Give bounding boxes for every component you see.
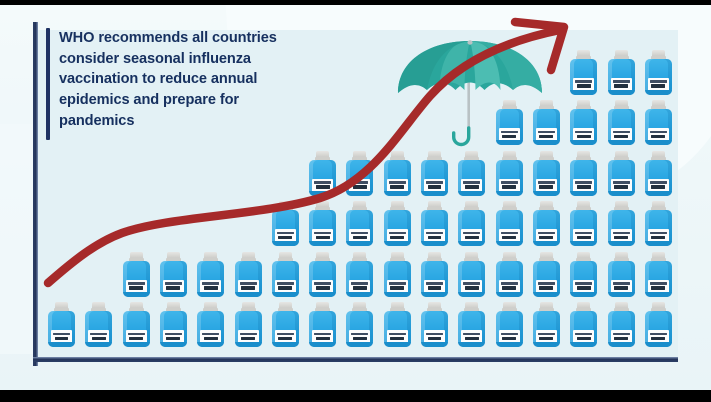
vial-body <box>458 261 485 297</box>
vial-body <box>85 311 112 347</box>
vaccine-vial-icon <box>496 201 523 246</box>
vial-label <box>611 330 632 343</box>
vaccine-vial-icon <box>384 302 411 347</box>
vaccine-vial-icon <box>85 302 112 347</box>
vial-label <box>163 280 184 293</box>
vial-label <box>573 280 594 293</box>
vial-label <box>126 330 147 343</box>
vial-label <box>573 330 594 343</box>
vaccine-vial-icon <box>384 252 411 297</box>
vaccine-vial-icon <box>458 302 485 347</box>
vaccine-vial-icon <box>421 302 448 347</box>
vial-label <box>424 229 445 242</box>
vial-body <box>533 160 560 196</box>
vial-body <box>197 311 224 347</box>
vial-label <box>611 128 632 141</box>
vial-body <box>421 160 448 196</box>
vaccine-vial-icon <box>272 302 299 347</box>
vial-body <box>496 261 523 297</box>
vial-label <box>312 330 333 343</box>
vial-body <box>160 311 187 347</box>
vial-body <box>608 109 635 145</box>
vaccine-vial-icon <box>458 151 485 196</box>
vial-body <box>496 311 523 347</box>
vial-body <box>608 210 635 246</box>
vial-label <box>461 179 482 192</box>
vial-body <box>346 160 373 196</box>
vial-label <box>88 330 109 343</box>
vial-label <box>275 280 296 293</box>
vaccine-vial-icon <box>421 252 448 297</box>
vial-body <box>570 210 597 246</box>
vial-label <box>200 330 221 343</box>
vaccine-vial-icon <box>608 151 635 196</box>
vaccine-vial-icon <box>570 100 597 145</box>
vial-label <box>648 78 669 91</box>
vial-body <box>48 311 75 347</box>
vial-body <box>384 210 411 246</box>
vial-body <box>496 210 523 246</box>
vaccine-vial-icon <box>48 302 75 347</box>
vial-body <box>384 261 411 297</box>
vaccine-vial-icon <box>608 50 635 95</box>
vaccine-vial-icon <box>309 252 336 297</box>
vial-body <box>570 311 597 347</box>
vial-label <box>349 229 370 242</box>
vial-label <box>163 330 184 343</box>
vial-body <box>608 311 635 347</box>
vial-body <box>570 261 597 297</box>
vaccine-vial-icon <box>346 302 373 347</box>
vaccine-vial-icon <box>645 302 672 347</box>
vial-body <box>272 210 299 246</box>
vial-label <box>387 330 408 343</box>
vial-body <box>533 210 560 246</box>
vial-label <box>648 330 669 343</box>
vaccine-vial-icon <box>346 201 373 246</box>
vaccine-vial-icon <box>496 151 523 196</box>
vial-body <box>645 59 672 95</box>
vaccine-vial-icon <box>197 302 224 347</box>
vial-label <box>51 330 72 343</box>
vial-body <box>421 261 448 297</box>
vial-body <box>309 160 336 196</box>
vaccine-vial-icon <box>645 151 672 196</box>
vial-body <box>309 210 336 246</box>
vial-body <box>123 261 150 297</box>
vaccine-vial-icon <box>533 302 560 347</box>
vaccine-vial-icon <box>533 252 560 297</box>
vial-label <box>461 330 482 343</box>
vaccine-vial-icon <box>570 50 597 95</box>
vial-label <box>611 179 632 192</box>
vaccine-vial-icon <box>533 151 560 196</box>
vaccine-vial-icon <box>570 252 597 297</box>
vial-body <box>533 261 560 297</box>
vial-label <box>387 229 408 242</box>
vial-body <box>272 261 299 297</box>
vial-body <box>496 160 523 196</box>
vial-label <box>424 330 445 343</box>
vial-body <box>346 210 373 246</box>
headline-block: WHO recommends all countries consider se… <box>46 28 308 140</box>
vial-body <box>197 261 224 297</box>
vaccine-vial-icon <box>421 201 448 246</box>
vial-label <box>387 280 408 293</box>
vial-label <box>499 280 520 293</box>
vial-label <box>424 280 445 293</box>
vaccine-vial-icon <box>645 201 672 246</box>
vial-body <box>235 261 262 297</box>
vial-label <box>536 330 557 343</box>
vial-label <box>238 280 259 293</box>
vial-body <box>645 160 672 196</box>
vial-body <box>645 261 672 297</box>
vial-label <box>499 229 520 242</box>
vial-label <box>611 229 632 242</box>
vaccine-vial-icon <box>346 151 373 196</box>
vaccine-vial-icon <box>384 201 411 246</box>
vaccine-vial-icon <box>235 302 262 347</box>
vaccine-vial-icon <box>645 50 672 95</box>
infographic-canvas: WHO recommends all countries consider se… <box>0 0 711 402</box>
vial-body <box>570 109 597 145</box>
vial-body <box>160 261 187 297</box>
vial-label <box>461 229 482 242</box>
vaccine-vial-icon <box>570 151 597 196</box>
vaccine-vial-icon <box>608 252 635 297</box>
vaccine-vial-icon <box>272 252 299 297</box>
vial-body <box>458 160 485 196</box>
vaccine-vial-icon <box>533 201 560 246</box>
vial-label <box>499 179 520 192</box>
vial-label <box>126 280 147 293</box>
vial-label <box>275 330 296 343</box>
vial-body <box>608 261 635 297</box>
vaccine-vial-icon <box>160 302 187 347</box>
vial-label <box>648 128 669 141</box>
vial-label <box>312 280 333 293</box>
vaccine-vial-icon <box>235 252 262 297</box>
vial-body <box>346 261 373 297</box>
vaccine-vial-icon <box>458 252 485 297</box>
vial-label <box>461 280 482 293</box>
vial-body <box>570 59 597 95</box>
vaccine-vial-icon <box>645 252 672 297</box>
vial-label <box>275 229 296 242</box>
vial-label <box>573 128 594 141</box>
vial-label <box>573 229 594 242</box>
headline-text: WHO recommends all countries consider se… <box>59 28 308 132</box>
vial-body <box>458 311 485 347</box>
vial-body <box>645 210 672 246</box>
vial-body <box>608 59 635 95</box>
vaccine-vial-icon <box>458 201 485 246</box>
vaccine-vial-icon <box>570 201 597 246</box>
vaccine-vial-icon <box>123 302 150 347</box>
vial-label <box>424 179 445 192</box>
vaccine-vial-icon <box>608 100 635 145</box>
vial-label <box>573 179 594 192</box>
vial-label <box>573 78 594 91</box>
letterbox-bottom <box>0 390 711 402</box>
vial-label <box>387 179 408 192</box>
vial-label <box>536 280 557 293</box>
vaccine-vial-icon <box>309 201 336 246</box>
vial-label <box>536 229 557 242</box>
vial-body <box>608 160 635 196</box>
umbrella-icon <box>396 33 544 151</box>
vial-label <box>349 179 370 192</box>
vial-body <box>421 311 448 347</box>
vial-body <box>645 311 672 347</box>
letterbox-top <box>0 0 711 5</box>
vial-label <box>611 78 632 91</box>
vial-body <box>421 210 448 246</box>
vial-body <box>645 109 672 145</box>
vial-body <box>309 311 336 347</box>
vial-label <box>611 280 632 293</box>
vial-label <box>499 330 520 343</box>
vial-body <box>272 311 299 347</box>
vial-body <box>570 160 597 196</box>
vial-label <box>312 179 333 192</box>
vial-body <box>384 311 411 347</box>
vial-label <box>648 179 669 192</box>
vial-body <box>458 210 485 246</box>
vaccine-vial-icon <box>346 252 373 297</box>
vial-label <box>200 280 221 293</box>
vial-label <box>349 330 370 343</box>
vaccine-vial-icon <box>608 302 635 347</box>
vaccine-vial-icon <box>496 302 523 347</box>
vial-body <box>533 311 560 347</box>
vaccine-vial-icon <box>309 151 336 196</box>
vaccine-vial-icon <box>421 151 448 196</box>
vial-label <box>312 229 333 242</box>
vial-body <box>384 160 411 196</box>
vaccine-vial-icon <box>496 252 523 297</box>
vaccine-vial-icon <box>123 252 150 297</box>
vaccine-vial-icon <box>272 201 299 246</box>
vial-body <box>346 311 373 347</box>
vaccine-vial-icon <box>160 252 187 297</box>
vial-label <box>349 280 370 293</box>
vaccine-vial-icon <box>384 151 411 196</box>
vial-label <box>648 280 669 293</box>
vial-body <box>309 261 336 297</box>
vaccine-vial-icon <box>645 100 672 145</box>
vaccine-vial-icon <box>608 201 635 246</box>
vial-label <box>648 229 669 242</box>
headline-accent-bar <box>46 28 50 140</box>
vaccine-vial-icon <box>309 302 336 347</box>
vial-body <box>235 311 262 347</box>
vial-label <box>238 330 259 343</box>
vaccine-vial-icon <box>570 302 597 347</box>
vaccine-vial-icon <box>197 252 224 297</box>
vial-label <box>536 179 557 192</box>
vial-body <box>123 311 150 347</box>
